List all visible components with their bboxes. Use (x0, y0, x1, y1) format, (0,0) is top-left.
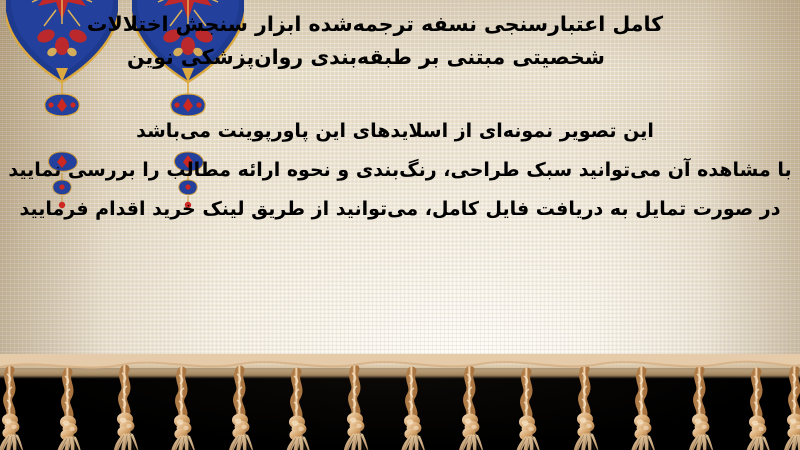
fringe-tassels (0, 354, 800, 450)
carpet-fringe-band (0, 368, 800, 450)
title-line-1: کامل اعتبارسنجی نسفه ترجمه‌شده ابزار سنج… (12, 8, 738, 41)
title-line-2: شخصیتی مبتنی بر طبقه‌بندی روان‌پزشکی نوی… (12, 41, 738, 74)
body-line-2: با مشاهده آن می‌توانید سبک طراحی، رنگ‌بن… (0, 151, 800, 190)
slide-title: کامل اعتبارسنجی نسفه ترجمه‌شده ابزار سنج… (12, 8, 782, 74)
body-line-3: در صورت تمایل به دریافت فایل کامل، می‌تو… (0, 190, 800, 229)
slide-body: این تصویر نمونه‌ای از اسلایدهای این پاور… (0, 112, 800, 229)
slide-canvas: کامل اعتبارسنجی نسفه ترجمه‌شده ابزار سنج… (0, 0, 800, 450)
body-line-1: این تصویر نمونه‌ای از اسلایدهای این پاور… (0, 112, 800, 151)
